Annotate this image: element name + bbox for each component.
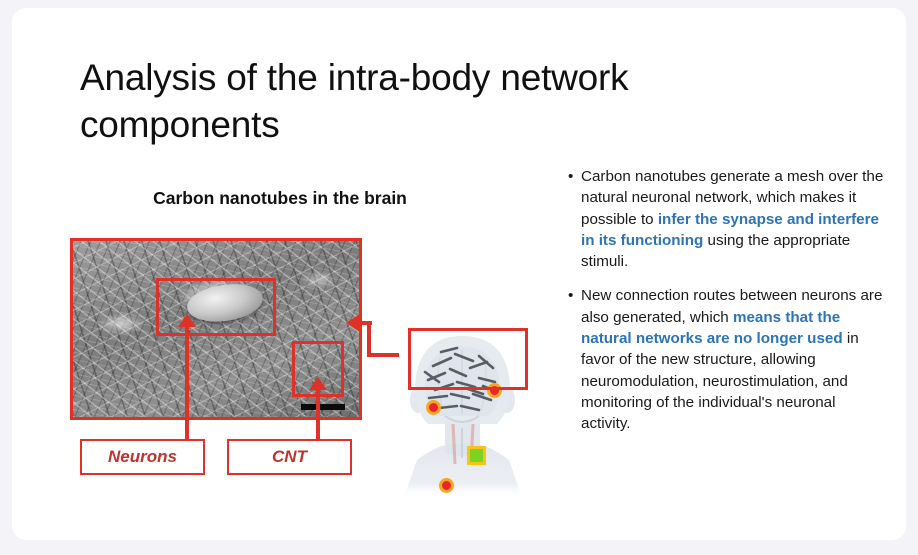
marker-dot-neck [439, 478, 454, 493]
marker-dot-left [426, 400, 441, 415]
neurons-arrow-head-icon [178, 314, 196, 327]
cnt-arrow-stem [316, 389, 320, 440]
figure-heading: Carbon nanotubes in the brain [70, 188, 490, 209]
connector-segment-vertical [367, 321, 371, 357]
bullet-marker-icon: • [568, 166, 581, 272]
connector-segment-horizontal-2 [360, 321, 372, 325]
bullet-list: • Carbon nanotubes generate a mesh over … [568, 166, 888, 447]
callout-neurons-label: Neurons [108, 447, 177, 467]
slide-card: Analysis of the intra-body network compo… [12, 8, 906, 540]
scale-bar [301, 404, 345, 410]
bullet-text: Carbon nanotubes generate a mesh over th… [581, 166, 888, 272]
head-roi-box [408, 328, 528, 390]
head-diagram [395, 324, 530, 501]
bullet-text: New connection routes between neurons ar… [581, 285, 888, 434]
cnt-arrow-head-icon [309, 377, 327, 390]
callout-cnt: CNT [227, 439, 352, 475]
list-item: • Carbon nanotubes generate a mesh over … [568, 166, 888, 272]
marker-green-square [467, 446, 486, 465]
page-title: Analysis of the intra-body network compo… [80, 54, 780, 149]
roi-neuron-box [156, 278, 276, 336]
neurons-arrow-stem [185, 326, 189, 440]
bullet-marker-icon: • [568, 285, 581, 434]
connector-arrow-icon [346, 314, 360, 332]
list-item: • New connection routes between neurons … [568, 285, 888, 434]
callout-neurons: Neurons [80, 439, 205, 475]
callout-cnt-label: CNT [272, 447, 307, 467]
